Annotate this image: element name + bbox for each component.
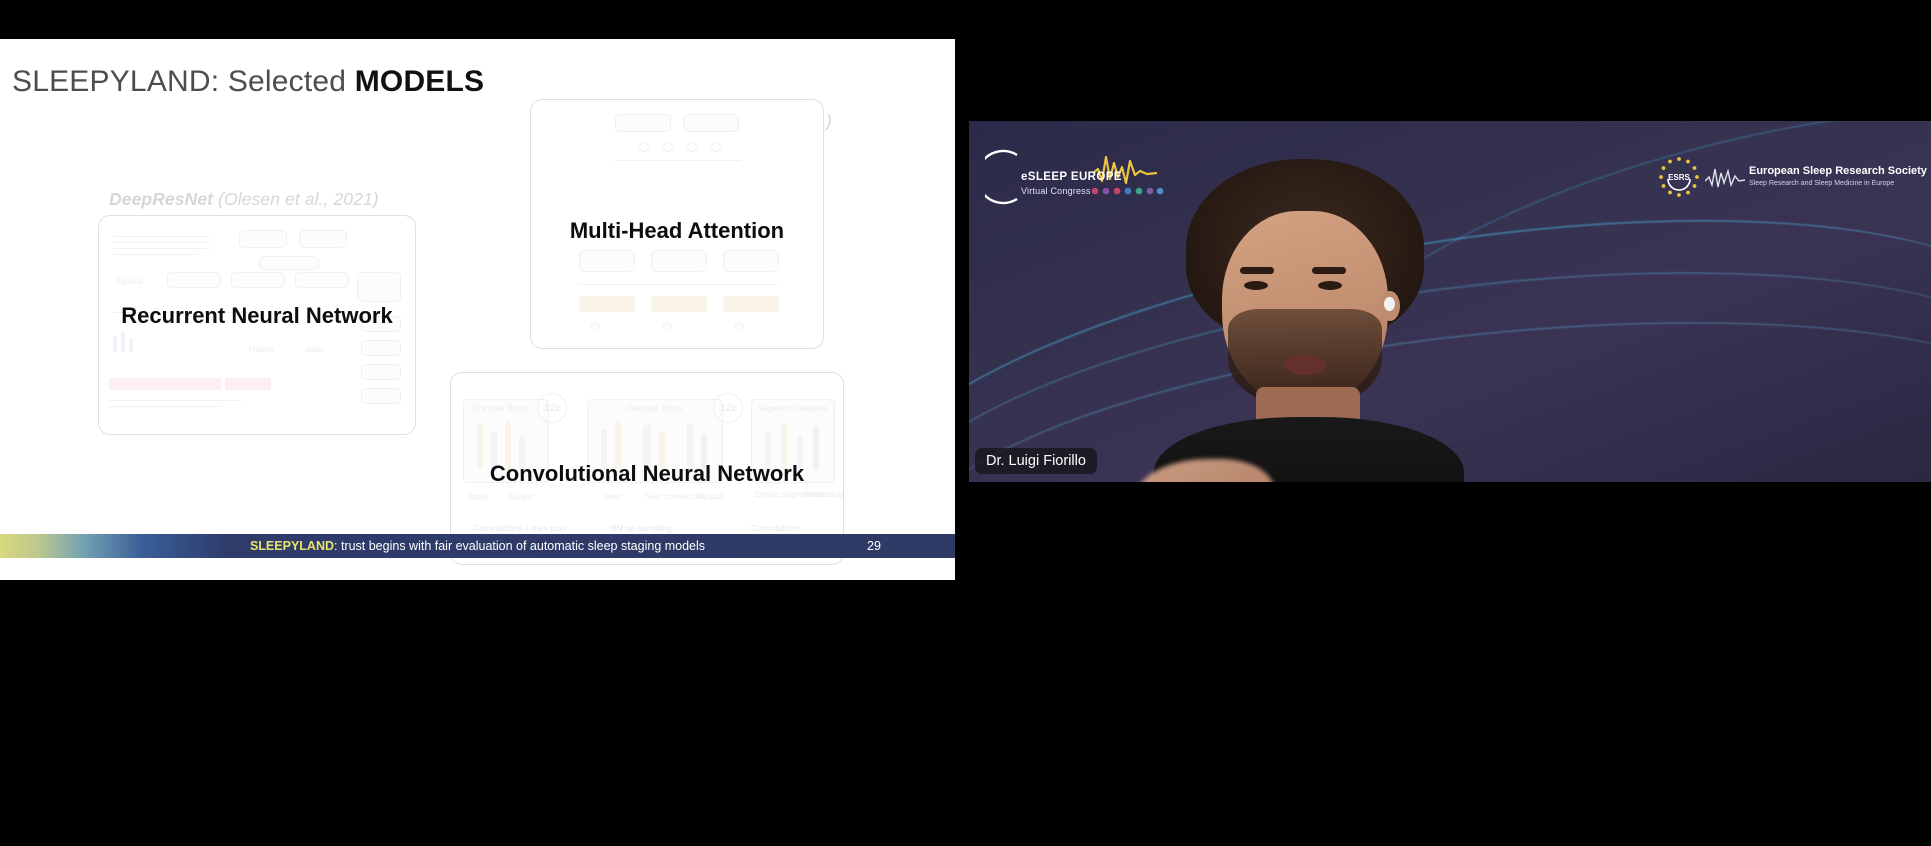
esrs-logo: ESRS European Sleep Research Society Sle… [1657,153,1917,199]
ghost-convolutions-2: Convolutions [751,523,800,533]
ghost-repeat-left: 12x [537,393,567,423]
esrs-wave-icon [1705,163,1745,193]
earbud-icon [1384,297,1395,311]
presenter-video[interactable]: eSLEEP EUROPE Virtual Congress [969,121,1931,482]
video-panel-region: eSLEEP EUROPE Virtual Congress [955,0,1931,846]
esleep-logo-line2: Virtual Congress [1021,186,1091,196]
ghost-skip-connection: Skip connection [645,491,705,501]
slide-title-normal: SLEEPYLAND: Selected [12,65,355,98]
footer-title: SLEEPYLAND: trust begins with fair evalu… [0,539,955,553]
presenter-name-label: Dr. Luigi Fiorillo [975,448,1097,474]
model-citation-deepresnet: (Olesen et al., 2021) [213,189,379,209]
presenter-figure [1144,159,1654,482]
esrs-logo-title: European Sleep Research Society [1749,165,1927,177]
model-panel-deepresnet: Signals hidden state Recurrent [98,215,416,435]
ghost-input: Input [469,491,488,501]
ghost-bn-upsampling: BN up-sampling [611,523,671,533]
slide-footer-bar: SLEEPYLAND: trust begins with fair evalu… [0,534,955,558]
model-label-deepresnet: Recurrent Neural Network [99,303,415,329]
ghost-repeat-right: 12x [713,393,743,423]
ghost-inner: Inner [603,491,622,501]
model-name-deepresnet: DeepResNet [109,189,213,209]
slide-page-number: 29 [867,534,881,558]
ghost-sleep-stages: Sleep stages [803,489,844,499]
page-title: SLEEPYLAND: Selected MODELS [12,65,484,99]
presentation-slide-region[interactable]: SLEEPYLAND: Selected MODELS DeepResNet (… [0,0,955,846]
model-label-usleep: Convolutional Neural Network [451,461,843,487]
ghost-segment-classifier: Segment Classifier [757,403,828,413]
ghost-encoder-block: Encoder Block [473,403,528,413]
screen: SLEEPYLAND: Selected MODELS DeepResNet (… [0,0,1931,846]
ghost-convolutions: Convolutions + max pool [473,523,566,533]
esleep-logo-line1: eSLEEP EUROPE [1021,171,1122,183]
slide-canvas: SLEEPYLAND: Selected MODELS DeepResNet (… [0,39,955,580]
model-label-sleeptransformer: Multi-Head Attention [531,218,823,244]
model-panel-sleeptransformer: Multi-Head Attention [530,99,824,349]
footer-subtitle: : trust begins with fair evaluation of a… [334,539,705,553]
ghost-output: Output [509,491,535,501]
ghost-decoder-block: Decoder Block [627,403,682,413]
caption-deepresnet: DeepResNet (Olesen et al., 2021) [109,189,379,210]
ghost-output-2: Output [697,491,723,501]
esrs-logo-subtitle: Sleep Research and Sleep Medicine in Eur… [1749,180,1894,187]
esrs-mark-text: ESRS [1657,155,1701,199]
esleep-europe-logo: eSLEEP EUROPE Virtual Congress [985,149,1165,205]
footer-highlight: SLEEPYLAND [250,539,334,553]
slide-title-bold: MODELS [355,65,485,98]
